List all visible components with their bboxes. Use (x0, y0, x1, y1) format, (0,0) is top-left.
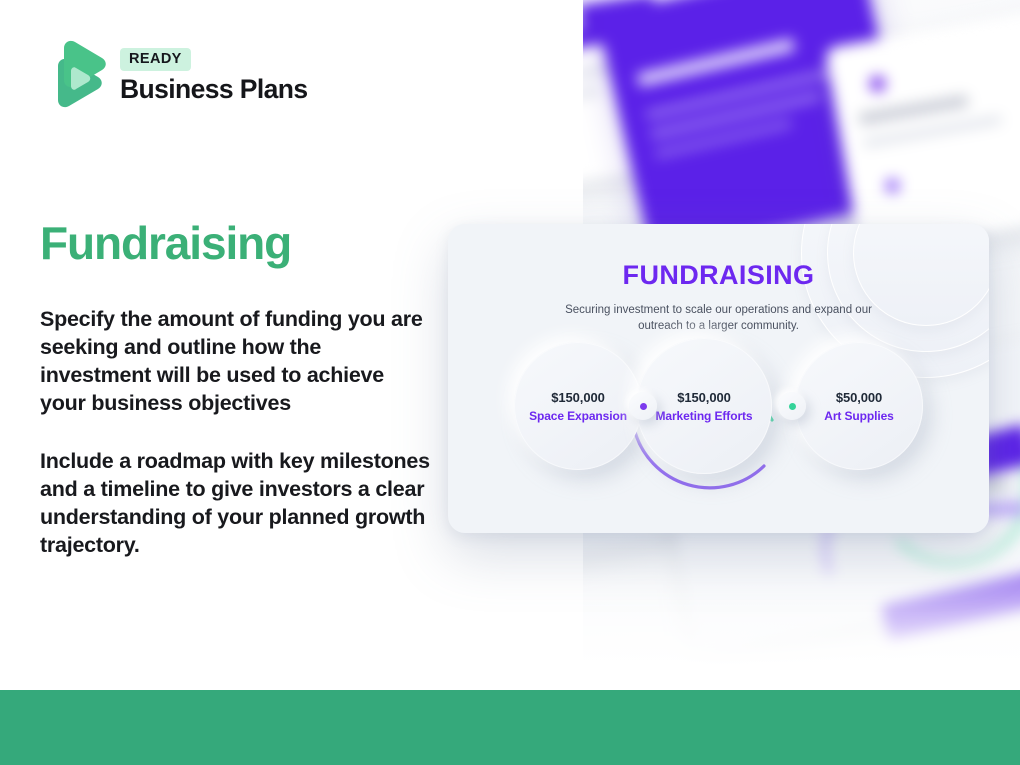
funding-diagram: $150,000 Space Expansion $150,000 Market… (448, 332, 989, 532)
body-copy: Specify the amount of funding you are se… (40, 305, 430, 559)
play-triangle-logo-icon (40, 38, 106, 114)
node-space-expansion[interactable]: $150,000 Space Expansion (514, 342, 642, 470)
connector-dot-left (629, 392, 657, 420)
connector-dot-right (778, 392, 806, 420)
brand-logo[interactable]: READY Business Plans (40, 38, 308, 114)
paragraph-1: Specify the amount of funding you are se… (40, 305, 430, 418)
paragraph-2: Include a roadmap with key milestones an… (40, 447, 430, 560)
bg-slide-3 (825, 7, 1020, 255)
footer-band (0, 690, 1020, 765)
brand-name: Business Plans (120, 74, 308, 105)
node-art-supplies[interactable]: $50,000 Art Supplies (795, 342, 923, 470)
node-amount: $50,000 (836, 390, 882, 405)
page-title: Fundraising (40, 216, 291, 270)
node-amount: $150,000 (551, 390, 604, 405)
node-amount: $150,000 (677, 390, 730, 405)
slide-root: READY Business Plans Fundraising Specify… (0, 0, 1020, 765)
node-label: Space Expansion (529, 409, 627, 423)
node-label: Marketing Efforts (656, 409, 753, 423)
ready-badge: READY (120, 48, 191, 71)
brand-lockup-text: READY Business Plans (120, 48, 308, 105)
bg-purple-sliver-2 (881, 570, 1020, 641)
node-label: Art Supplies (824, 409, 893, 423)
card-title: FUNDRAISING (448, 260, 989, 291)
fundraising-card: FUNDRAISING Securing investment to scale… (448, 224, 989, 533)
